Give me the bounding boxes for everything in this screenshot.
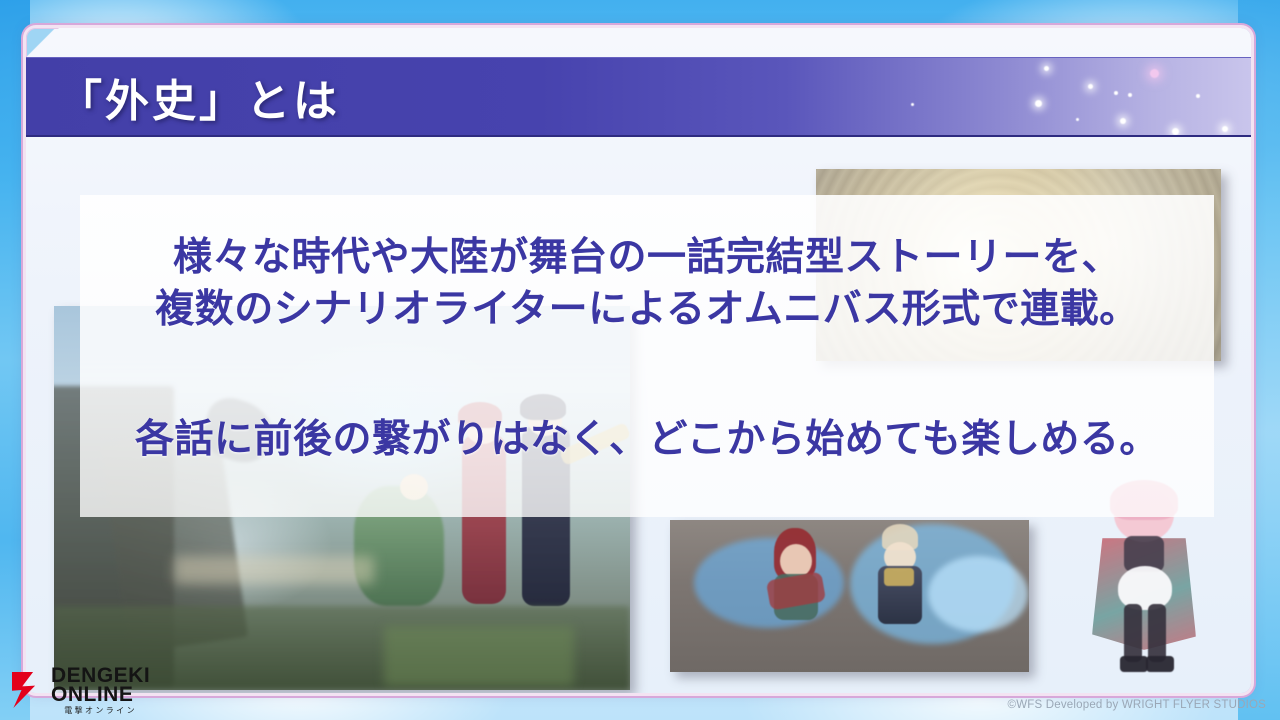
- text-overlay-card: 様々な時代や大陸が舞台の一話完結型ストーリーを、 複数のシナリオライターによるオ…: [80, 195, 1214, 517]
- page-title: 「外史」とは: [58, 65, 340, 129]
- body-line-1: 様々な時代や大陸が舞台の一話完結型ストーリーを、: [80, 226, 1214, 282]
- body-line-3: 各話に前後の繋がりはなく、どこから始めても楽しめる。: [80, 408, 1214, 464]
- body-line-2: 複数のシナリオライターによるオムニバス形式で連載。: [80, 278, 1214, 334]
- logo-line-2: ONLINE: [51, 685, 150, 704]
- slide-stage: 「外史」とは: [0, 0, 1280, 720]
- slide-header-band: 「外史」とは: [26, 57, 1251, 137]
- copyright-notice: ©WFS Developed by WRIGHT FLYER STUDIOS: [1008, 699, 1266, 711]
- slide-panel: 「外史」とは: [26, 28, 1251, 693]
- dengeki-online-logo: DENGEKI ONLINE 電撃オンライン: [12, 664, 160, 716]
- battle-screenshot: [670, 520, 1029, 672]
- lightning-bolt-icon: [12, 672, 46, 708]
- logo-line-3: 電撃オンライン: [51, 707, 150, 714]
- logo-wordmark: DENGEKI ONLINE 電撃オンライン: [51, 666, 150, 714]
- panel-corner-notch: [26, 28, 58, 60]
